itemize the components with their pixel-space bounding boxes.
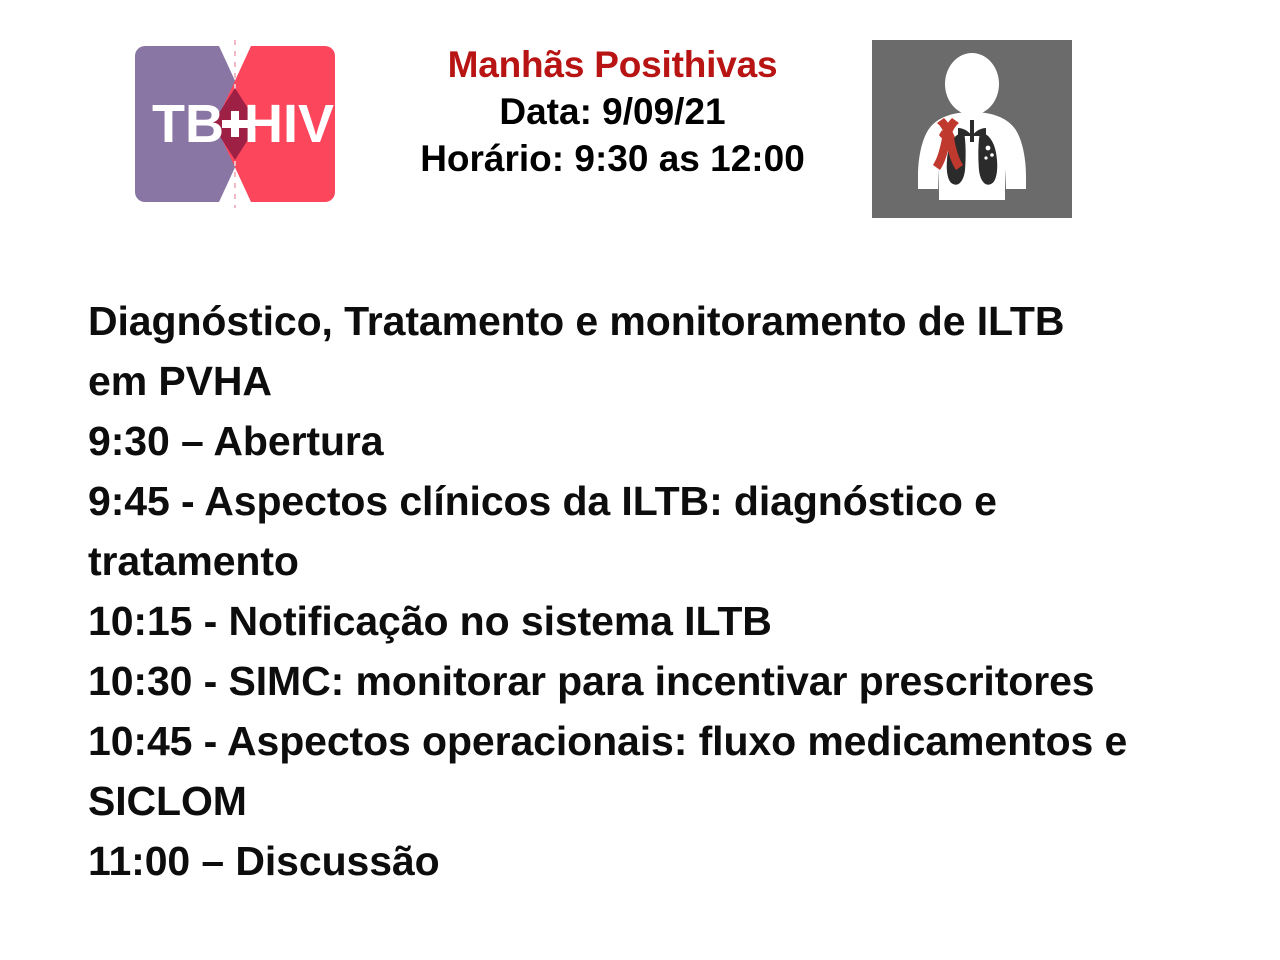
slide-canvas: TB HIV Manhãs Posithivas Data: 9/09/21 H… <box>0 0 1280 960</box>
logo-hiv-label: HIV <box>244 94 334 154</box>
event-time: Horário: 9:30 as 12:00 <box>355 138 870 181</box>
agenda-line: Diagnóstico, Tratamento e monitoramento … <box>88 291 1248 351</box>
logo-tb-label: TB <box>152 94 224 154</box>
agenda-line: em PVHA <box>88 351 1248 411</box>
agenda-line: tratamento <box>88 531 1248 591</box>
agenda-line: 10:45 - Aspectos operacionais: fluxo med… <box>88 711 1248 771</box>
agenda-line: 10:30 - SIMC: monitorar para incentivar … <box>88 651 1248 711</box>
slide-header: TB HIV Manhãs Posithivas Data: 9/09/21 H… <box>0 0 1280 235</box>
event-date: Data: 9/09/21 <box>355 91 870 134</box>
agenda-line: 11:00 – Discussão <box>88 831 1248 891</box>
agenda-line: SICLOM <box>88 771 1248 831</box>
person-head-shape <box>945 53 999 115</box>
agenda-text-block: Diagnóstico, Tratamento e monitoramento … <box>88 291 1248 891</box>
tb-hiv-logo: TB HIV <box>131 38 339 210</box>
person-with-lungs-and-red-ribbon-icon <box>872 40 1072 218</box>
event-title: Manhãs Posithivas <box>355 44 870 87</box>
agenda-line: 9:30 – Abertura <box>88 411 1248 471</box>
agenda-line: 9:45 - Aspectos clínicos da ILTB: diagnó… <box>88 471 1248 531</box>
header-text-block: Manhãs Posithivas Data: 9/09/21 Horário:… <box>355 44 870 181</box>
agenda-line: 10:15 - Notificação no sistema ILTB <box>88 591 1248 651</box>
